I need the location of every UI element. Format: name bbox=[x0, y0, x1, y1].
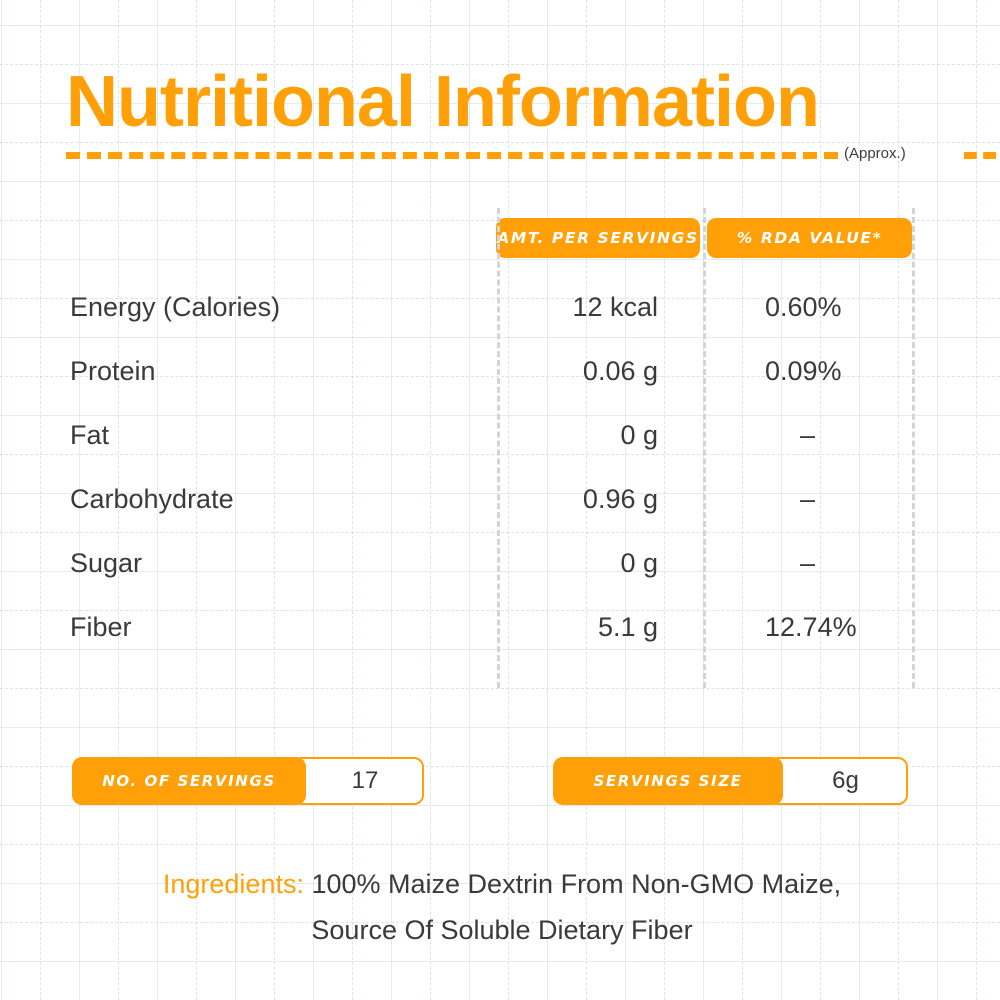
column-header-amount-per-serving: AMT. PER SERVINGS bbox=[496, 218, 700, 258]
title-dashed-rule-left bbox=[66, 152, 838, 159]
nutrient-rda: 0.60% bbox=[765, 292, 842, 323]
table-row: Protein 0.06 g 0.09% bbox=[0, 356, 1000, 420]
ingredients-block: Ingredients: 100% Maize Dextrin From Non… bbox=[72, 861, 932, 953]
title-dashed-rule-right bbox=[964, 152, 996, 159]
serving-size-label: SERVINGS SIZE bbox=[553, 757, 783, 805]
nutrient-amount: 0 g bbox=[460, 420, 658, 451]
nutrient-rda: – bbox=[800, 420, 815, 451]
nutrient-amount: 0.06 g bbox=[460, 356, 658, 387]
table-row: Sugar 0 g – bbox=[0, 548, 1000, 612]
nutrient-rda: 0.09% bbox=[765, 356, 842, 387]
nutrient-amount: 5.1 g bbox=[460, 612, 658, 643]
nutrient-name: Energy (Calories) bbox=[70, 292, 280, 323]
table-row: Energy (Calories) 12 kcal 0.60% bbox=[0, 292, 1000, 356]
nutrient-amount: 12 kcal bbox=[460, 292, 658, 323]
serving-size-value: 6g bbox=[769, 757, 908, 805]
servings-count-pill: NO. OF SERVINGS 17 bbox=[72, 757, 424, 805]
ingredients-line-1: 100% Maize Dextrin From Non-GMO Maize, bbox=[304, 869, 841, 899]
page-title: Nutritional Information bbox=[66, 64, 936, 140]
nutrient-name: Protein bbox=[70, 356, 156, 387]
nutrient-table: Energy (Calories) 12 kcal 0.60% Protein … bbox=[0, 292, 1000, 676]
nutrient-rda: – bbox=[800, 548, 815, 579]
nutrient-rda: 12.74% bbox=[765, 612, 857, 643]
ingredients-label: Ingredients: bbox=[163, 869, 304, 899]
nutrient-amount: 0 g bbox=[460, 548, 658, 579]
table-row: Fat 0 g – bbox=[0, 420, 1000, 484]
servings-count-label: NO. OF SERVINGS bbox=[72, 757, 306, 805]
title-underline-row: (Approx.) bbox=[66, 146, 936, 166]
title-block: Nutritional Information (Approx.) bbox=[66, 64, 936, 166]
nutrient-name: Fat bbox=[70, 420, 109, 451]
title-approx-note: (Approx.) bbox=[844, 145, 906, 162]
table-row: Fiber 5.1 g 12.74% bbox=[0, 612, 1000, 676]
servings-count-value: 17 bbox=[292, 757, 424, 805]
nutrient-name: Carbohydrate bbox=[70, 484, 234, 515]
nutrient-amount: 0.96 g bbox=[460, 484, 658, 515]
table-row: Carbohydrate 0.96 g – bbox=[0, 484, 1000, 548]
nutrient-name: Sugar bbox=[70, 548, 142, 579]
nutrition-label-page: Nutritional Information (Approx.) AMT. P… bbox=[0, 0, 1000, 1000]
nutrient-name: Fiber bbox=[70, 612, 132, 643]
nutrient-rda: – bbox=[800, 484, 815, 515]
serving-size-pill: SERVINGS SIZE 6g bbox=[553, 757, 908, 805]
ingredients-line-2: Source Of Soluble Dietary Fiber bbox=[311, 915, 692, 945]
label-content: Nutritional Information (Approx.) AMT. P… bbox=[0, 0, 1000, 1000]
column-header-rda-value: % RDA VALUE* bbox=[707, 218, 912, 258]
